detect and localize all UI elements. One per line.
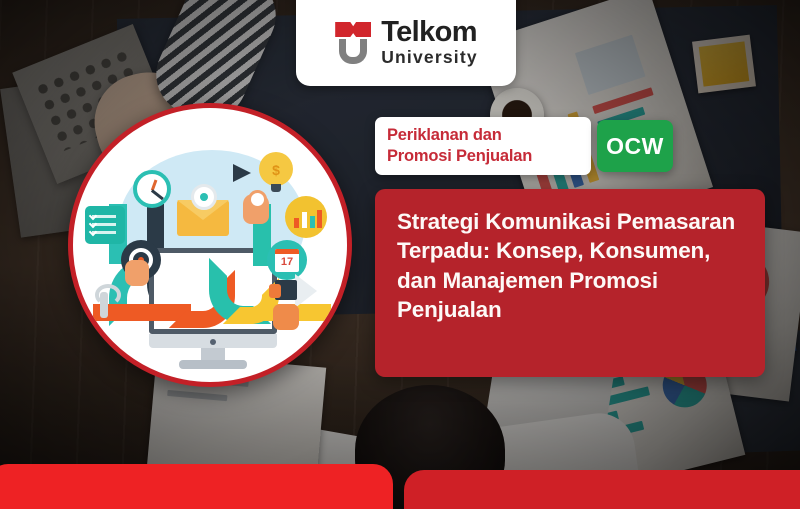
paper-plane-icon (233, 164, 251, 182)
bar-chart-icon (285, 196, 327, 238)
course-title-block: Strategi Komunikasi Pemasaran Terpadu: K… (375, 189, 765, 377)
checklist-icon (85, 206, 125, 244)
telkom-university-logo-icon (334, 19, 372, 65)
bottom-accent-bar-left (0, 464, 393, 509)
clock-icon (133, 170, 171, 208)
page-title: Strategi Komunikasi Pemasaran Terpadu: K… (397, 207, 741, 324)
telkom-university-logo-card: Telkom University (296, 0, 516, 86)
lightbulb-money-icon: $ (259, 152, 293, 186)
monitor-bezel (149, 334, 277, 348)
course-subject-card: Periklanan dan Promosi Penjualan (375, 117, 591, 175)
hand-ok-gesture-icon (243, 194, 269, 224)
logo-line-university: University (381, 49, 478, 67)
monitor-stand-base (179, 360, 247, 369)
bottom-accent-bar-right (404, 470, 800, 509)
hand-holding-target-icon (125, 260, 149, 286)
illustration-circle: $ 17 (68, 103, 352, 387)
marketing-illustration: $ 17 (73, 108, 347, 382)
book-mark-icon (335, 22, 371, 37)
megaphone-icon (269, 274, 325, 308)
logo-line-telkom: Telkom (381, 18, 478, 47)
lightbulb-currency-label: $ (272, 162, 280, 178)
calendar-day-label: 17 (275, 249, 299, 272)
subject-line-2: Promosi Penjualan (387, 146, 579, 167)
hand-holding-megaphone-icon (273, 304, 299, 330)
ocw-badge-label: OCW (606, 133, 664, 160)
ocw-badge: OCW (597, 120, 673, 172)
gear-icon (191, 184, 217, 210)
u-mark-icon (339, 39, 367, 64)
wrench-icon (93, 284, 115, 318)
logo-wordmark: Telkom University (381, 18, 478, 67)
thumbnail-canvas: Telkom University (0, 0, 800, 509)
subject-line-1: Periklanan dan (387, 125, 579, 146)
